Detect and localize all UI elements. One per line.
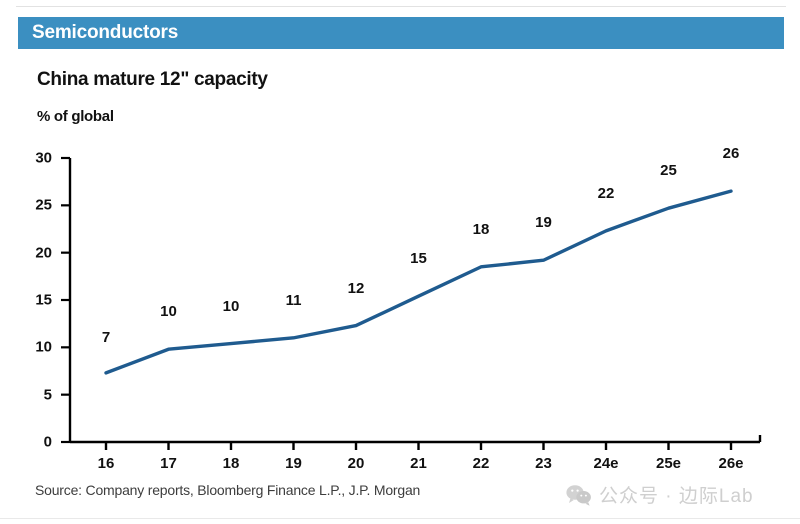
data-point-label: 22	[584, 185, 628, 202]
data-point-label: 18	[459, 221, 503, 238]
x-axis-tick-label: 25e	[641, 455, 697, 472]
x-axis-tick-label: 16	[78, 455, 134, 472]
y-axis-tick-label: 0	[18, 434, 52, 451]
chart-page: Semiconductors China mature 12" capacity…	[0, 0, 800, 524]
bottom-divider	[0, 518, 800, 519]
y-axis-tick-label: 15	[18, 292, 52, 309]
y-axis-tick-label: 5	[18, 386, 52, 403]
source-note: Source: Company reports, Bloomberg Finan…	[35, 482, 420, 498]
data-point-label: 19	[522, 214, 566, 231]
x-axis-tick-label: 22	[453, 455, 509, 472]
x-axis-tick-label: 21	[391, 455, 447, 472]
y-axis-tick-label: 30	[18, 150, 52, 167]
data-point-label: 25	[647, 162, 691, 179]
x-axis-tick-label: 17	[141, 455, 197, 472]
data-point-label: 26	[709, 145, 753, 162]
data-point-label: 10	[147, 303, 191, 320]
x-axis-tick-label: 19	[266, 455, 322, 472]
data-point-label: 7	[84, 329, 128, 346]
data-point-label: 12	[334, 280, 378, 297]
watermark: 公众号 · 边际Lab	[566, 481, 754, 508]
data-point-label: 10	[209, 298, 253, 315]
x-axis-tick-label: 20	[328, 455, 384, 472]
data-series	[106, 191, 731, 373]
watermark-label: 公众号 · 边际Lab	[599, 481, 754, 508]
y-axis-tick-label: 20	[18, 244, 52, 261]
data-point-label: 11	[272, 292, 316, 309]
x-axis-tick-label: 26e	[703, 455, 759, 472]
x-axis-tick-label: 24e	[578, 455, 634, 472]
wechat-icon	[566, 484, 592, 506]
data-point-label: 15	[397, 250, 441, 267]
y-axis-tick-label: 10	[18, 339, 52, 356]
x-axis-tick-label: 18	[203, 455, 259, 472]
plot-area: 051015202530 161718192021222324e25e26e 7…	[0, 0, 800, 524]
y-axis-tick-label: 25	[18, 197, 52, 214]
x-axis-tick-label: 23	[516, 455, 572, 472]
